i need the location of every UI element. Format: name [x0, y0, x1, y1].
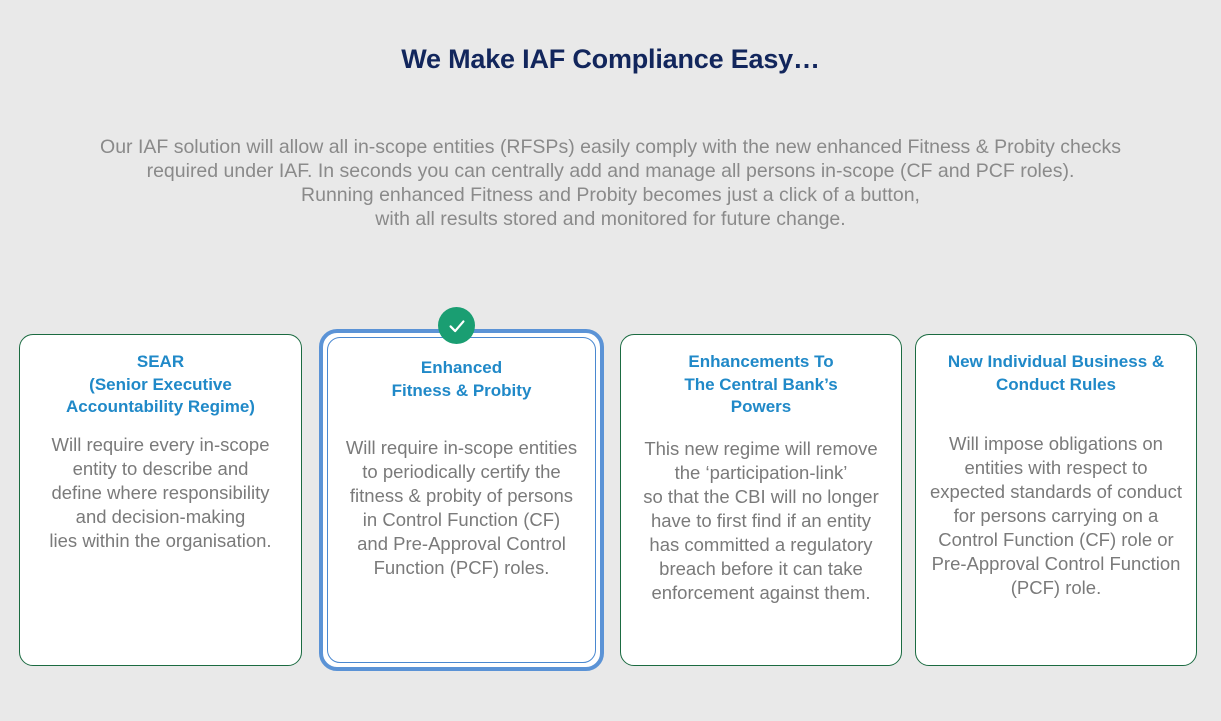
card-body: This new regime will remove the ‘partici… [629, 437, 893, 605]
intro-line-2: required under IAF. In seconds you can c… [0, 159, 1221, 183]
card-heading: Enhancements To The Central Bank’s Power… [629, 351, 893, 419]
card-central-bank-powers[interactable]: Enhancements To The Central Bank’s Power… [620, 334, 902, 666]
intro-line-4: with all results stored and monitored fo… [0, 207, 1221, 231]
card-enhanced-fitness-probity[interactable]: Enhanced Fitness & Probity Will require … [319, 329, 604, 671]
intro-line-3: Running enhanced Fitness and Probity bec… [0, 183, 1221, 207]
card-heading: New Individual Business & Conduct Rules [924, 351, 1188, 396]
card-heading: Enhanced Fitness & Probity [340, 357, 583, 402]
card-sear[interactable]: SEAR (Senior Executive Accountability Re… [19, 334, 302, 666]
pillar-card-row: SEAR (Senior Executive Accountability Re… [0, 300, 1221, 680]
intro-line-1: Our IAF solution will allow all in-scope… [0, 135, 1221, 159]
page-title: We Make IAF Compliance Easy… [0, 44, 1221, 75]
card-body: Will impose obligations on entities with… [924, 432, 1188, 600]
card-body: Will require in-scope entities to period… [340, 436, 583, 580]
card-heading: SEAR (Senior Executive Accountability Re… [28, 351, 293, 419]
card-conduct-rules[interactable]: New Individual Business & Conduct Rules … [915, 334, 1197, 666]
intro-paragraph: Our IAF solution will allow all in-scope… [0, 135, 1221, 231]
check-icon [438, 307, 475, 344]
card-body: Will require every in-scope entity to de… [28, 433, 293, 553]
card-inner-frame: Enhanced Fitness & Probity Will require … [327, 337, 596, 663]
